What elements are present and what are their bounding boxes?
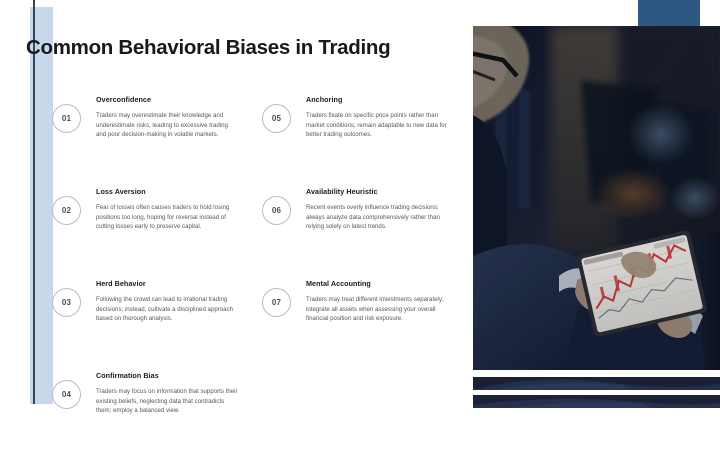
trader-with-tablet-photo xyxy=(473,26,720,370)
bias-title: Confirmation Bias xyxy=(96,372,238,381)
bias-number-badge: 01 xyxy=(52,104,81,133)
bias-item[interactable]: 06 Availability Heuristic Recent events … xyxy=(262,188,448,250)
bias-title: Mental Accounting xyxy=(306,280,448,289)
bias-description: Traders fixate on specific price points … xyxy=(306,111,448,141)
bias-number-badge: 05 xyxy=(262,104,291,133)
bias-number-badge: 02 xyxy=(52,196,81,225)
bias-item[interactable]: 03 Herd Behavior Following the crowd can… xyxy=(52,280,238,342)
bias-description: Following the crowd can lead to irration… xyxy=(96,295,238,325)
bias-item[interactable]: 04 Confirmation Bias Traders may focus o… xyxy=(52,372,238,434)
slide-canvas: Common Behavioral Biases in Trading 01 O… xyxy=(0,0,720,404)
bias-title: Herd Behavior xyxy=(96,280,238,289)
bias-title: Anchoring xyxy=(306,96,448,105)
page-title: Common Behavioral Biases in Trading xyxy=(26,36,390,60)
bias-description: Traders may focus on information that su… xyxy=(96,387,238,417)
photo-strip-upper xyxy=(473,377,720,390)
bias-item[interactable]: 07 Mental Accounting Traders may treat d… xyxy=(262,280,448,342)
bias-number-badge: 03 xyxy=(52,288,81,317)
bias-item[interactable]: 05 Anchoring Traders fixate on specific … xyxy=(262,96,448,158)
bias-number-badge: 04 xyxy=(52,380,81,409)
bias-title: Loss Aversion xyxy=(96,188,238,197)
bias-description: Recent events overly influence trading d… xyxy=(306,203,448,233)
bias-description: Fear of losses often causes traders to h… xyxy=(96,203,238,233)
bias-description: Traders may overestimate their knowledge… xyxy=(96,111,238,141)
bias-title: Availability Heuristic xyxy=(306,188,448,197)
bias-description: Traders may treat different investments … xyxy=(306,295,448,325)
bias-number-badge: 06 xyxy=(262,196,291,225)
bias-grid: 01 Overconfidence Traders may overestima… xyxy=(52,96,452,392)
bias-column-left: 01 Overconfidence Traders may overestima… xyxy=(52,96,238,464)
bias-item[interactable]: 02 Loss Aversion Fear of losses often ca… xyxy=(52,188,238,250)
bias-title: Overconfidence xyxy=(96,96,238,105)
bias-number-badge: 07 xyxy=(262,288,291,317)
bias-item[interactable]: 01 Overconfidence Traders may overestima… xyxy=(52,96,238,158)
top-right-accent-tab xyxy=(638,0,700,27)
left-accent-line xyxy=(33,0,35,404)
bias-column-right: 05 Anchoring Traders fixate on specific … xyxy=(262,96,448,372)
photo-strip-lower xyxy=(473,395,720,408)
